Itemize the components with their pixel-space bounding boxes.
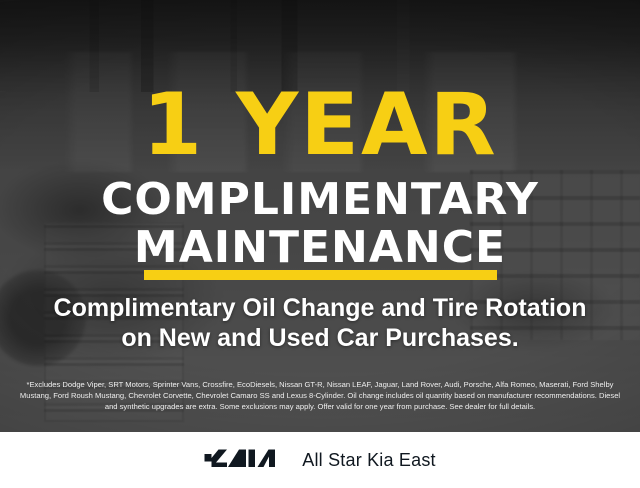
headline-year: 1 YEAR [0,82,640,168]
yellow-divider-bar [144,270,497,280]
offer-line-2: on New and Used Car Purchases. [0,324,640,353]
banner-content: 1 YEAR COMPLIMENTARY MAINTENANCE Complim… [0,0,640,432]
headline-complimentary: COMPLIMENTARY [0,178,640,222]
footer-bar: All Star Kia East [0,432,640,488]
dealer-name: All Star Kia East [302,451,435,469]
headline-maintenance: MAINTENANCE [0,226,640,270]
offer-line-1: Complimentary Oil Change and Tire Rotati… [0,294,640,323]
promo-banner: 1 YEAR COMPLIMENTARY MAINTENANCE Complim… [0,0,640,488]
disclaimer-text: *Excludes Dodge Viper, SRT Motors, Sprin… [14,379,626,413]
kia-logo-icon [204,445,280,476]
